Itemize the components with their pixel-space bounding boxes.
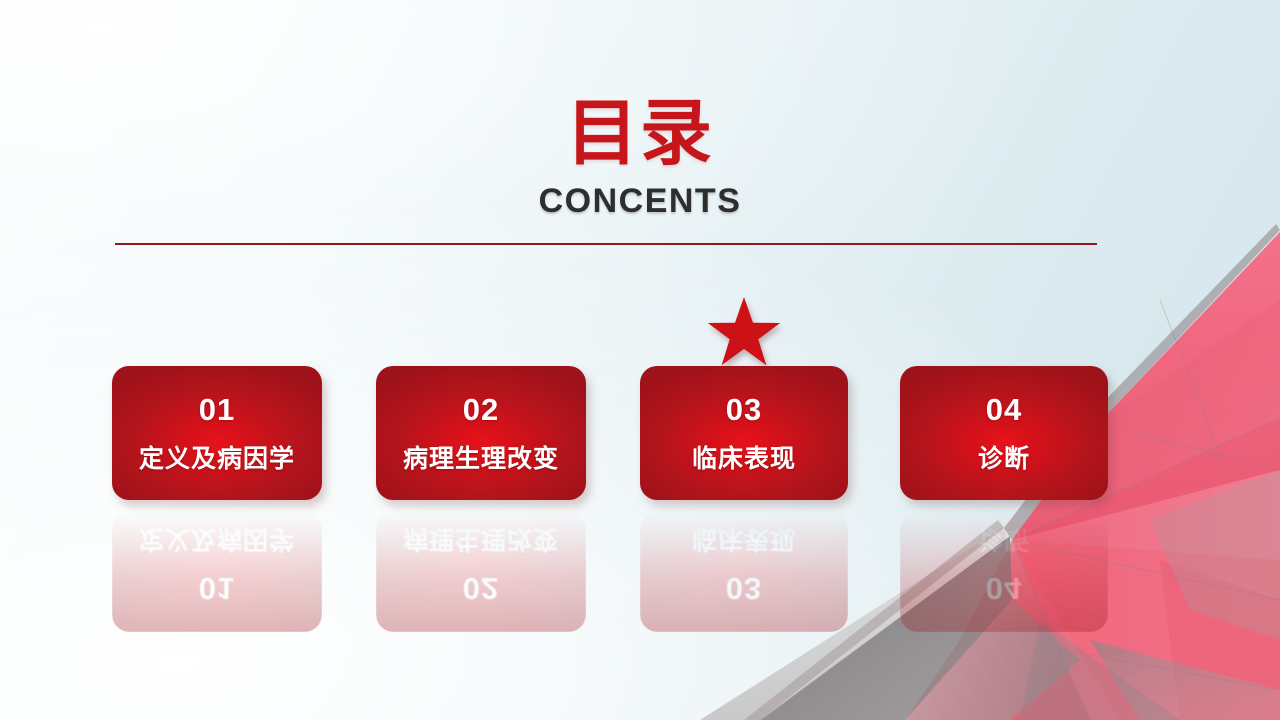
contents-item-04[interactable]: 04 诊断 04 诊断 [900,366,1108,500]
card-number-reflection: 03 [726,573,762,604]
card-number-reflection: 02 [463,573,499,604]
contents-item-02[interactable]: 02 病理生理改变 02 病理生理改变 [376,366,586,500]
card-reflection: 04 诊断 [900,512,1108,632]
card-label-reflection: 病理生理改变 [403,526,559,551]
card-03[interactable]: 03 临床表现 [640,366,848,500]
card-number-reflection: 01 [199,573,235,604]
card-label-reflection: 定义及病因学 [139,526,295,551]
card-label: 定义及病因学 [139,447,295,472]
card-reflection: 02 病理生理改变 [376,512,586,632]
card-02[interactable]: 02 病理生理改变 [376,366,586,500]
card-reflection: 01 定义及病因学 [112,512,322,632]
card-04[interactable]: 04 诊断 [900,366,1108,500]
contents-card-list: 01 定义及病因学 01 定义及病因学 02 病理生理改变 02 病理生理改变 [0,0,1280,720]
card-number: 01 [199,394,235,425]
card-01[interactable]: 01 定义及病因学 [112,366,322,500]
card-label-reflection: 临床表现 [692,526,796,551]
contents-item-01[interactable]: 01 定义及病因学 01 定义及病因学 [112,366,322,500]
card-number: 02 [463,394,499,425]
contents-item-03[interactable]: 03 临床表现 03 临床表现 [640,366,848,500]
card-number: 04 [986,394,1022,425]
card-reflection: 03 临床表现 [640,512,848,632]
card-number-reflection: 04 [986,573,1022,604]
card-number: 03 [726,394,762,425]
card-label: 病理生理改变 [403,447,559,472]
card-label: 诊断 [978,447,1030,472]
presentation-slide: 目录 CONCENTS 01 定义及病因学 01 定义及病因学 02 [0,0,1280,720]
card-label-reflection: 诊断 [978,526,1030,551]
card-label: 临床表现 [692,447,796,472]
